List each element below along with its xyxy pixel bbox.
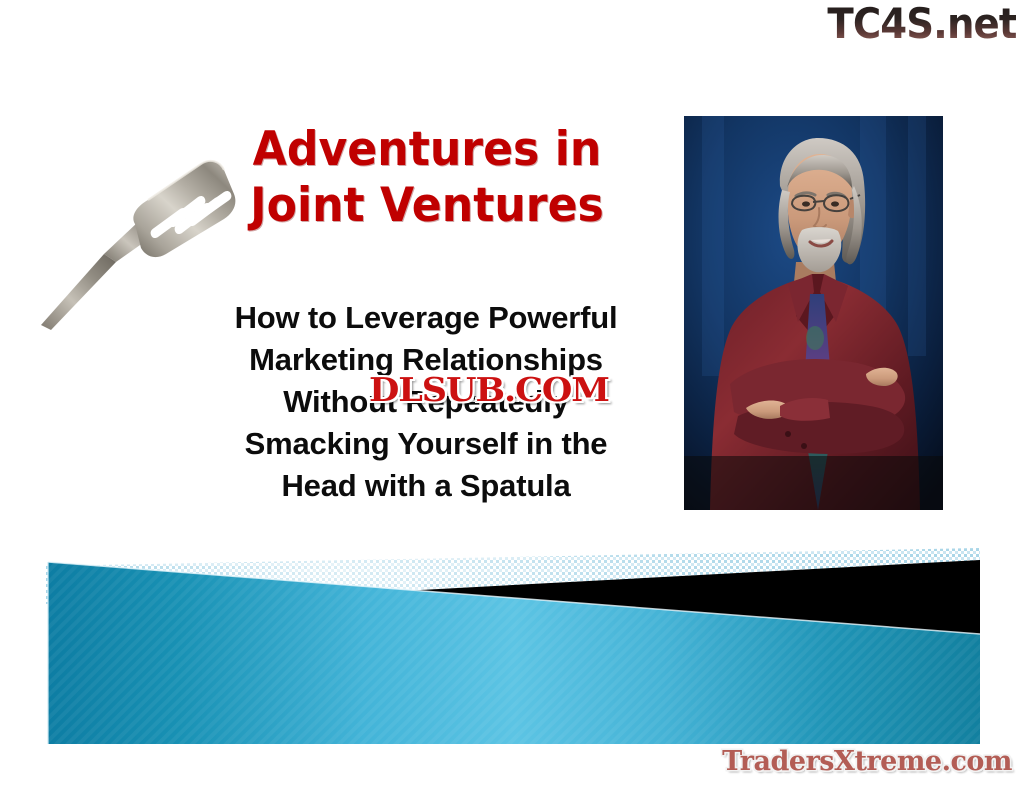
overlay-watermark: DLSUB.COM	[369, 372, 609, 408]
page-title: Adventures in Joint Ventures	[193, 122, 661, 234]
brand-logo: TC4S.net	[827, 2, 1016, 46]
portrait-photo-graphic	[684, 116, 943, 510]
banner-graphic	[46, 548, 980, 744]
footer-watermark: TradersXtreme.com	[722, 747, 1012, 777]
portrait-photo	[684, 116, 943, 510]
subtitle-line-4: Smacking Yourself in the	[176, 423, 676, 465]
subtitle-line-1: How to Leverage Powerful	[176, 297, 676, 339]
slide-canvas: TC4S.net	[0, 0, 1024, 791]
decorative-banner	[46, 548, 980, 744]
title-line-2: Joint Ventures	[193, 178, 661, 234]
title-line-1: Adventures in	[193, 122, 661, 178]
subtitle-line-5: Head with a Spatula	[176, 465, 676, 507]
